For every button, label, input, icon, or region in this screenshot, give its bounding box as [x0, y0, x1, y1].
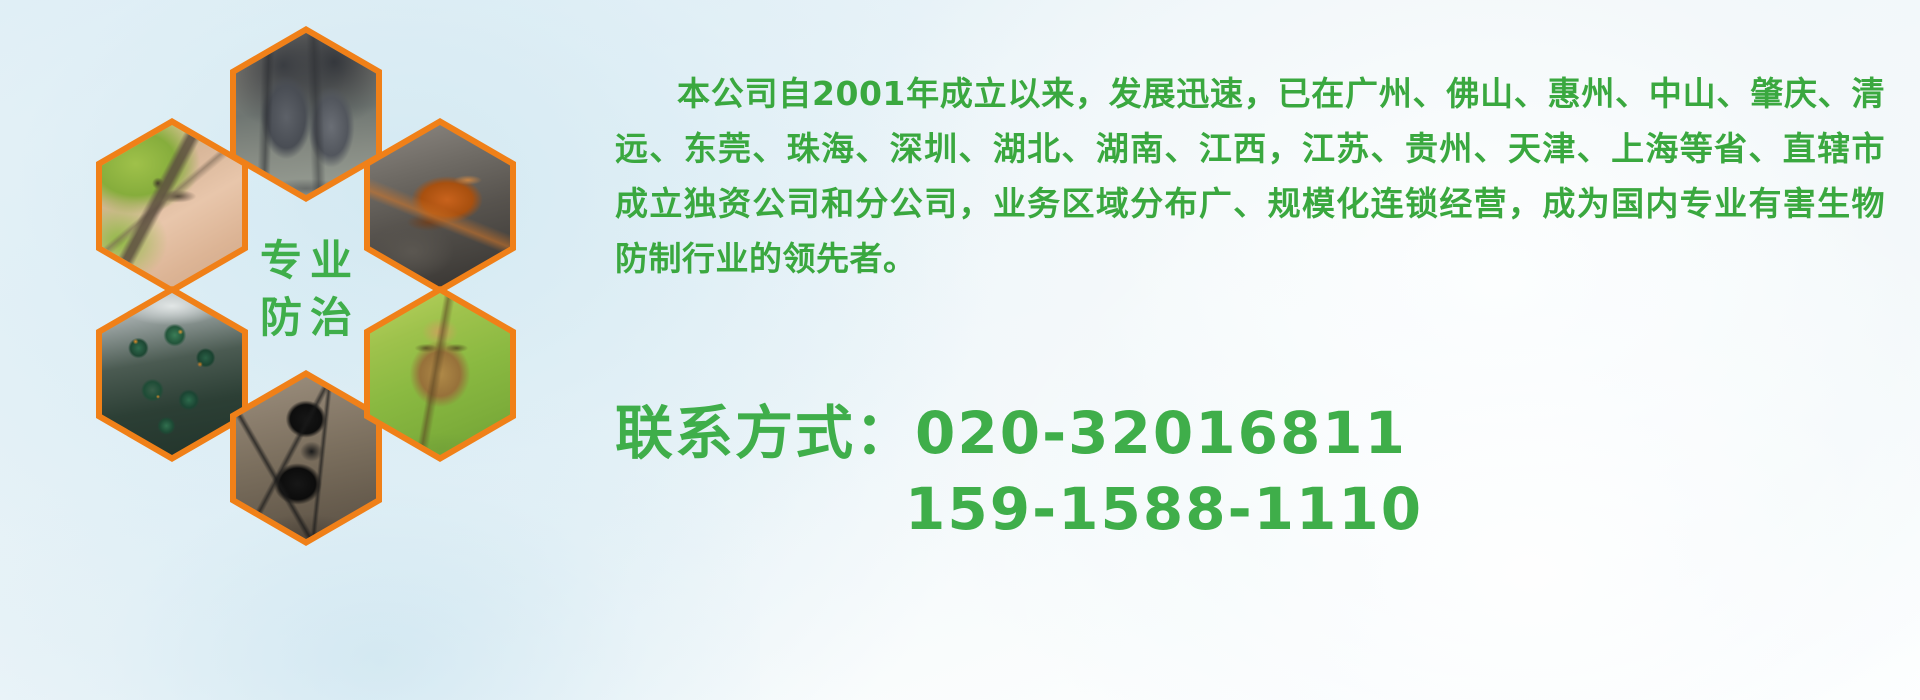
- ant-photo: [236, 377, 376, 539]
- hex-cell-ant-inner: [236, 377, 376, 539]
- contact-primary-line: 联系方式：020-32016811: [615, 395, 1895, 471]
- cockroach-photo: [370, 125, 510, 287]
- contact-phone-secondary[interactable]: 159-1588-1110: [905, 475, 1423, 543]
- hex-cell-slogan: 专业 防治: [230, 202, 382, 378]
- slogan-line-2: 防治: [252, 290, 360, 347]
- contact-phone-primary[interactable]: 020-32016811: [915, 399, 1407, 467]
- hex-cell-rat[interactable]: [230, 26, 382, 202]
- hex-cell-flies[interactable]: [96, 286, 248, 462]
- hex-cell-rat-inner: [236, 33, 376, 195]
- hex-cell-mosquito-inner: [102, 125, 242, 287]
- stinkbug-photo: [370, 293, 510, 455]
- intro-paragraph: 本公司自2001年成立以来，发展迅速，已在广州、佛山、惠州、中山、肇庆、清远、东…: [615, 66, 1885, 286]
- contact-secondary-line: 159-1588-1110: [615, 471, 1895, 547]
- hex-cell-flies-inner: [102, 293, 242, 455]
- flies-photo: [102, 293, 242, 455]
- contact-label: 联系方式：: [615, 399, 915, 467]
- contact-block: 联系方式：020-32016811 159-1588-1110: [615, 395, 1895, 547]
- rat-photo: [236, 33, 376, 195]
- mosquito-photo: [102, 125, 242, 287]
- slogan-line-1: 专业: [252, 233, 360, 290]
- intro-block: 本公司自2001年成立以来，发展迅速，已在广州、佛山、惠州、中山、肇庆、清远、东…: [615, 33, 1885, 319]
- hex-cell-cockroach[interactable]: [364, 118, 516, 294]
- hex-cell-mosquito[interactable]: [96, 118, 248, 294]
- hex-cell-ant[interactable]: [230, 370, 382, 546]
- honeycomb-collage: 专业 防治: [96, 8, 596, 568]
- hex-cell-stinkbug-inner: [370, 293, 510, 455]
- hex-cell-cockroach-inner: [370, 125, 510, 287]
- hex-cell-stinkbug[interactable]: [364, 286, 516, 462]
- promo-banner: 专业 防治 本公司自2001年成立以来，发展迅速，已在广州、佛山、惠州、中山、肇…: [0, 0, 1920, 700]
